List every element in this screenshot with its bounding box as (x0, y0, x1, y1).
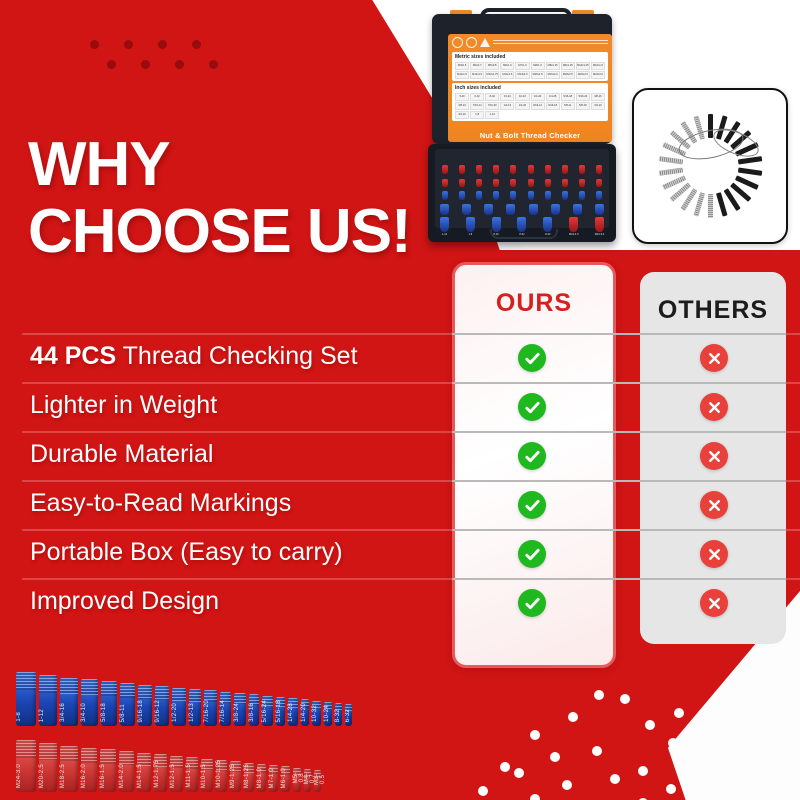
size-cell: M16x2.0 (546, 71, 560, 79)
size-cell: 7/16-20 (485, 102, 499, 110)
cross-icon (700, 344, 728, 372)
gauge-body: M14-2.0 (119, 751, 134, 792)
gauge-body: M6-1.0 (281, 766, 289, 792)
gauge-body: 7/16-14 (220, 692, 232, 726)
promo-banner: Metric sizes included M3x0.5M4x0.7M5x0.8… (0, 0, 800, 800)
row-divider (22, 529, 800, 531)
page-title: WHY CHOOSE US! (28, 132, 411, 266)
size-cell: 1-8 (470, 111, 484, 119)
size-cell: 5/16-24 (576, 93, 590, 101)
thread-gauge (456, 165, 467, 174)
thread-gauge (491, 165, 502, 174)
thread-gauge (473, 165, 484, 174)
ours-header: OURS (455, 289, 613, 318)
dot (90, 40, 99, 49)
gauge-label: 1-12 (439, 233, 450, 236)
red-gauge-strip: M24-3.0M20-2.5M18-2.5M16-2.0M16-1.5M14-2… (16, 740, 321, 792)
size-cell: 8-32 (485, 93, 499, 101)
thread-gauge: 9/16-12 (155, 686, 169, 726)
gauge-label: 5/16-24 (262, 700, 272, 722)
dot (192, 40, 201, 49)
thread-gauge (505, 204, 516, 215)
gauge-label: 1-8 (465, 233, 476, 236)
size-cell: M9x1.25 (561, 62, 575, 70)
thread-gauge (508, 191, 519, 200)
thread-gauge (439, 204, 450, 215)
thread-gauge: 10-32 (312, 701, 320, 726)
gauge-body: 1/2-20 (172, 688, 185, 726)
thread-gauge (525, 191, 536, 200)
gauge-label: M14-1.5 (137, 764, 151, 788)
thread-gauge (508, 179, 519, 187)
size-cell: 3/4-10 (591, 102, 605, 110)
gauge-label: M5-0.8 (293, 768, 301, 788)
gauge-label: M16-1.5 (100, 764, 116, 788)
gauge-body: M8-1.25 (244, 763, 254, 792)
gauge-body: M12-1.5 (170, 756, 183, 792)
thread-gauge: M10-1.5 (201, 759, 213, 792)
tray-gauge-row (439, 191, 605, 200)
gauge-label: 3/4-16 (60, 703, 77, 722)
check-icon (518, 442, 546, 470)
size-cell: 5/16-18 (561, 93, 575, 101)
gauge-label: 3/4-10 (81, 703, 98, 722)
thread-gauge (461, 204, 472, 215)
thread-gauge: M14-2.0 (119, 751, 134, 792)
size-cell: 5/8-11 (561, 102, 575, 110)
thread-gauge: M6-1.0 (281, 766, 289, 792)
thread-gauge (542, 191, 553, 200)
size-cell: 7/16-14 (470, 102, 484, 110)
feature-label: Improved Design (30, 587, 219, 616)
gauge-threads (101, 681, 117, 696)
thread-gauge (473, 191, 484, 200)
gauge-label: 7/16-20 (204, 700, 216, 722)
thread-gauge: M3-0.5 (314, 770, 321, 792)
size-cell: M18x2.5 (561, 71, 575, 79)
thread-gauge (439, 179, 450, 187)
size-cell: 1-12 (485, 111, 499, 119)
cross-icon (700, 491, 728, 519)
thread-gauge (473, 179, 484, 187)
gauge-body: 10-32 (312, 701, 320, 726)
thread-gauge (560, 165, 571, 174)
gauge-body: M3-0.5 (314, 770, 321, 792)
gauge-body: 6-32 (345, 704, 352, 726)
gauge-body: 5/16-18 (276, 697, 286, 726)
thread-gauge: 1/4-28 (288, 698, 297, 726)
thread-gauge (483, 204, 494, 215)
metric-size-section: Metric sizes included M3x0.5M4x0.7M5x0.8… (452, 52, 608, 81)
dot (562, 780, 572, 790)
table-row: Improved Design (0, 578, 800, 627)
size-cell: M14x1.5 (500, 71, 514, 79)
thread-gauge: M14-1.5 (137, 753, 151, 792)
gauge-label: M24-3.0 (16, 764, 36, 788)
gauge-label: 5/16-18 (276, 700, 286, 722)
thread-gauge: 3/4-16 (60, 678, 77, 727)
dot (209, 60, 218, 69)
thread-gauge (491, 191, 502, 200)
thread-gauge (528, 204, 539, 215)
thread-gauge (439, 165, 450, 174)
gauge-label: M3-0.5 (314, 770, 321, 788)
ring-gauge (737, 156, 761, 164)
size-cell: 1/4-20 (531, 93, 545, 101)
thread-gauge: M9-1.25 (230, 761, 241, 792)
thread-gauge (525, 179, 536, 187)
size-cell: 1/2-13 (500, 102, 514, 110)
dot (514, 768, 524, 778)
thread-gauge: M11-1.5 (186, 757, 198, 792)
metric-heading: Metric sizes included (455, 54, 605, 60)
thread-gauge (560, 191, 571, 200)
thread-gauge: M16-1.5 (100, 749, 116, 792)
gauge-body: 1/4-28 (288, 698, 297, 726)
gauge-body: 3/4-16 (60, 678, 77, 727)
case-lid: Metric sizes included M3x0.5M4x0.7M5x0.8… (432, 14, 612, 144)
dot (668, 738, 678, 748)
check-icon (518, 589, 546, 617)
tray-gauge-row (439, 204, 605, 215)
gauge-label: M12-1.5 (170, 764, 183, 788)
recycle-icon (452, 37, 463, 48)
gauge-label: M7-1.0 (269, 768, 278, 788)
thread-gauge: M5-0.8 (293, 768, 301, 792)
table-row: Durable Material (0, 431, 800, 480)
thread-gauge: 1/2-20 (172, 688, 185, 726)
thread-gauge: M20-2.5 (39, 743, 57, 792)
gauge-label: M24-3.0 (594, 233, 605, 236)
dot (620, 694, 630, 704)
thread-gauge: 5/8-18 (101, 681, 117, 726)
dot (638, 766, 648, 776)
thread-gauge: M24-2.0 (568, 217, 579, 236)
size-cell: M10x1.25 (576, 62, 590, 70)
feature-label: Portable Box (Easy to carry) (30, 538, 343, 567)
gauge-body: M7-1.0 (269, 765, 278, 792)
headline-line-1: WHY (28, 132, 411, 199)
thread-gauge (572, 204, 583, 215)
thread-gauge: 3/8-16 (249, 694, 260, 726)
headline-line-2: CHOOSE US! (28, 199, 411, 266)
gauge-body: 3/8-16 (249, 694, 260, 726)
row-divider (22, 382, 800, 384)
gauge-threads (60, 746, 77, 762)
thread-gauge (456, 179, 467, 187)
thread-gauge (525, 165, 536, 174)
gauge-body: 5/8-11 (120, 683, 135, 726)
gauge-body: 1/4-20 (301, 699, 310, 726)
gauge-label: M20-2.5 (39, 764, 57, 788)
dot (530, 730, 540, 740)
gauge-threads (16, 672, 36, 690)
thread-gauge: 1/2-13 (189, 689, 202, 726)
gauge-label: 9/16-18 (138, 700, 153, 722)
gauge-label: 5/8-18 (101, 703, 117, 722)
size-cell: 5-40 (455, 93, 469, 101)
thread-gauge (594, 165, 605, 174)
thread-gauge: 7/16-20 (204, 690, 216, 726)
thread-gauge (439, 191, 450, 200)
thread-gauge (550, 204, 561, 215)
table-row: Lighter in Weight (0, 382, 800, 431)
gauge-body: M4-0.7 (304, 769, 311, 792)
size-cell: 10-32 (515, 93, 529, 101)
size-cell: 3/4-16 (455, 111, 469, 119)
thread-gauge: 8-32 (335, 703, 342, 726)
ring-gauge (708, 194, 713, 218)
brand-line: Nut & Bolt Thread Checker (448, 131, 612, 140)
gauge-label: 5/8-11 (120, 704, 135, 722)
feature-highlight: 44 PCS (30, 342, 116, 370)
tray-gauge-row (439, 165, 605, 174)
gauge-body: 3/4-10 (81, 679, 98, 726)
thread-gauge: M7-1.0 (269, 765, 278, 792)
table-row: 44 PCS Thread Checking Set (0, 333, 800, 382)
thread-gauge: 3/8-24 (234, 693, 245, 726)
thread-gauge (594, 204, 605, 215)
size-cell: M11x1.5 (455, 71, 469, 79)
gauge-label: 1-12 (39, 709, 57, 722)
case-base: 1-121-88-328-328-40M24-2.0M24-3.0 (428, 144, 616, 242)
size-cell: 3/8-24 (455, 102, 469, 110)
size-cell: M24x3.0 (591, 71, 605, 79)
gauge-label: M12-1.75 (154, 760, 168, 788)
gauge-label: M10-1.25 (216, 760, 227, 788)
size-cell: M8x1.25 (546, 62, 560, 70)
gauge-threads (39, 675, 57, 692)
gauge-label: M14-2.0 (119, 764, 134, 788)
thread-gauge (594, 191, 605, 200)
size-cell: M6x1.0 (500, 62, 514, 70)
gauge-ring-inset-card (632, 88, 788, 244)
gauge-body: M16-2.0 (81, 748, 97, 792)
thread-gauge (594, 179, 605, 187)
size-cell: M5x0.8 (485, 62, 499, 70)
gauge-label: 6-32 (345, 709, 352, 722)
check-icon (518, 540, 546, 568)
table-row: Easy-to-Read Markings (0, 480, 800, 529)
dot (141, 60, 150, 69)
row-divider-grey (452, 333, 786, 335)
thread-gauge (560, 179, 571, 187)
thread-gauge: 1/4-20 (301, 699, 310, 726)
check-icon (518, 393, 546, 421)
gauge-label: 10-24 (324, 705, 332, 722)
cross-icon (700, 589, 728, 617)
gauge-label: 10-32 (312, 705, 320, 722)
gauge-body: M18-2.5 (60, 746, 77, 792)
gauge-label: M18-2.5 (60, 764, 77, 788)
size-cell: M14x2.0 (515, 71, 529, 79)
thread-gauge (508, 165, 519, 174)
size-cell: 1/2-20 (515, 102, 529, 110)
thread-gauge: 1-8 (465, 217, 476, 236)
others-header: OTHERS (640, 296, 786, 325)
gauge-body: 5/16-24 (262, 696, 272, 726)
dot (674, 708, 684, 718)
feature-label: 44 PCS Thread Checking Set (30, 342, 358, 371)
gauge-body: M10-1.5 (201, 759, 213, 792)
thread-gauge: M12-1.5 (170, 756, 183, 792)
case-label: Metric sizes included M3x0.5M4x0.7M5x0.8… (448, 34, 612, 142)
thread-gauge: M24-3.0 (594, 217, 605, 236)
dot (592, 746, 602, 756)
dot (594, 690, 604, 700)
gauge-label: 3/8-16 (249, 703, 260, 722)
size-cell: M8x1.0 (531, 62, 545, 70)
thread-gauge: M18-2.5 (60, 746, 77, 792)
thread-gauge: 1-12 (39, 675, 57, 726)
thread-gauge (577, 179, 588, 187)
gauge-label: 1/4-20 (301, 703, 310, 722)
feature-label: Durable Material (30, 440, 213, 469)
gauge-body: 1/2-13 (189, 689, 202, 726)
size-cell: M10x1.5 (591, 62, 605, 70)
thread-gauge: 1-8 (16, 672, 36, 726)
gauge-body: M11-1.5 (186, 757, 198, 792)
thread-gauge (577, 191, 588, 200)
thread-gauge: 5/8-11 (120, 683, 135, 726)
size-cell: M12x1.5 (470, 71, 484, 79)
tray-gauge-row (439, 179, 605, 187)
gauge-threads (172, 688, 185, 701)
row-divider-grey (452, 431, 786, 433)
row-divider-grey (452, 480, 786, 482)
thread-gauge (542, 165, 553, 174)
feature-label: Lighter in Weight (30, 391, 217, 420)
case-base-handle (490, 229, 558, 239)
blue-gauge-strip: 1-81-123/4-163/4-105/8-185/8-119/16-189/… (16, 672, 352, 726)
gauge-label: M10-1.5 (201, 764, 213, 788)
thread-gauge: 5/16-24 (262, 696, 272, 726)
dot (568, 712, 578, 722)
gauge-body: 1-8 (16, 672, 36, 726)
size-cell: M3x0.5 (455, 62, 469, 70)
gauge-threads (16, 740, 36, 758)
thread-gauge: M10-1.25 (216, 760, 227, 792)
check-icon (518, 491, 546, 519)
comparison-table: 44 PCS Thread Checking SetLighter in Wei… (0, 333, 800, 627)
gauge-threads (81, 679, 98, 695)
gauge-body: M10-1.25 (216, 760, 227, 792)
ring-gauge (658, 156, 682, 164)
size-cell: 10-24 (500, 93, 514, 101)
thread-gauge: M16-2.0 (81, 748, 97, 792)
thread-gauge: 10-24 (324, 702, 332, 726)
gauge-label: M16-2.0 (81, 764, 97, 788)
gauge-label: 1/4-28 (288, 703, 297, 722)
gauge-body: M16-1.5 (100, 749, 116, 792)
prohibition-icon (466, 37, 477, 48)
dot (645, 720, 655, 730)
row-divider (22, 480, 800, 482)
gauge-body: M5-0.8 (293, 768, 301, 792)
dot (158, 40, 167, 49)
thread-gauge (456, 191, 467, 200)
dot (175, 60, 184, 69)
thread-gauge: M24-3.0 (16, 740, 36, 792)
cross-icon (700, 442, 728, 470)
fine-print (493, 40, 608, 45)
size-cell: M7x1.0 (515, 62, 529, 70)
gauge-label: M11-1.5 (186, 764, 198, 788)
gauge-threads (189, 689, 202, 702)
size-cell: 1/4-28 (546, 93, 560, 101)
thread-gauge (577, 165, 588, 174)
gauge-body: M24-3.0 (16, 740, 36, 792)
gauge-body: 8-32 (335, 703, 342, 726)
gauge-body: M12-1.75 (154, 754, 168, 792)
gauge-label: M6-1.0 (281, 768, 289, 788)
dot (550, 752, 560, 762)
thread-gauge (542, 179, 553, 187)
thread-gauge: 1-12 (439, 217, 450, 236)
gauge-label: M4-0.7 (304, 769, 311, 788)
size-cell: 6-32 (470, 93, 484, 101)
gauge-body: 9/16-12 (155, 686, 169, 726)
gauge-body: M14-1.5 (137, 753, 151, 792)
size-cell: M20x2.5 (576, 71, 590, 79)
gauge-label: 1-8 (16, 712, 36, 722)
gauge-threads (81, 748, 97, 763)
dot (124, 40, 133, 49)
inch-heading: Inch sizes included (455, 85, 605, 91)
gauge-body: 9/16-18 (138, 685, 153, 726)
gauge-label: 1/2-13 (189, 703, 202, 722)
metric-size-grid: M3x0.5M4x0.7M5x0.8M6x1.0M7x1.0M8x1.0M8x1… (455, 62, 605, 79)
gauge-label: 1/2-20 (172, 703, 185, 722)
gauge-threads (100, 749, 116, 764)
ring-gauge (658, 168, 682, 176)
row-divider (22, 431, 800, 433)
gauge-label: M24-2.0 (568, 233, 579, 236)
thread-gauge: 9/16-18 (138, 685, 153, 726)
gauge-label: M8-1.25 (244, 764, 254, 788)
row-divider-grey (452, 529, 786, 531)
dot (478, 786, 488, 796)
table-row: Portable Box (Easy to carry) (0, 529, 800, 578)
cross-icon (700, 540, 728, 568)
row-divider (22, 333, 800, 335)
thread-gauge: 6-32 (345, 704, 352, 726)
dot (500, 762, 510, 772)
cross-icon (700, 393, 728, 421)
inch-size-grid: 5-406-328-3210-2410-321/4-201/4-285/16-1… (455, 93, 605, 119)
label-icon-row (448, 34, 612, 50)
row-divider (22, 578, 800, 580)
thread-gauge: M4-0.7 (304, 769, 311, 792)
size-cell: M16x1.5 (531, 71, 545, 79)
gauge-body: 5/8-18 (101, 681, 117, 726)
gauge-body: 3/8-24 (234, 693, 245, 726)
size-cell: 5/8-18 (576, 102, 590, 110)
row-divider-grey (452, 382, 786, 384)
size-cell: M12x1.75 (485, 71, 499, 79)
gauge-label: M9-1.25 (230, 764, 241, 788)
gauge-body: M8-1.0 (257, 764, 267, 792)
inch-size-section: Inch sizes included 5-406-328-3210-2410-… (452, 83, 608, 121)
gauge-threads (119, 751, 134, 765)
gauge-label: 7/16-14 (220, 700, 232, 722)
ring-gauge (693, 192, 705, 216)
check-icon (518, 344, 546, 372)
gauge-label: M8-1.0 (257, 768, 267, 788)
dot (530, 794, 540, 800)
gauge-body: 7/16-20 (204, 690, 216, 726)
ring-gauge (737, 168, 761, 176)
